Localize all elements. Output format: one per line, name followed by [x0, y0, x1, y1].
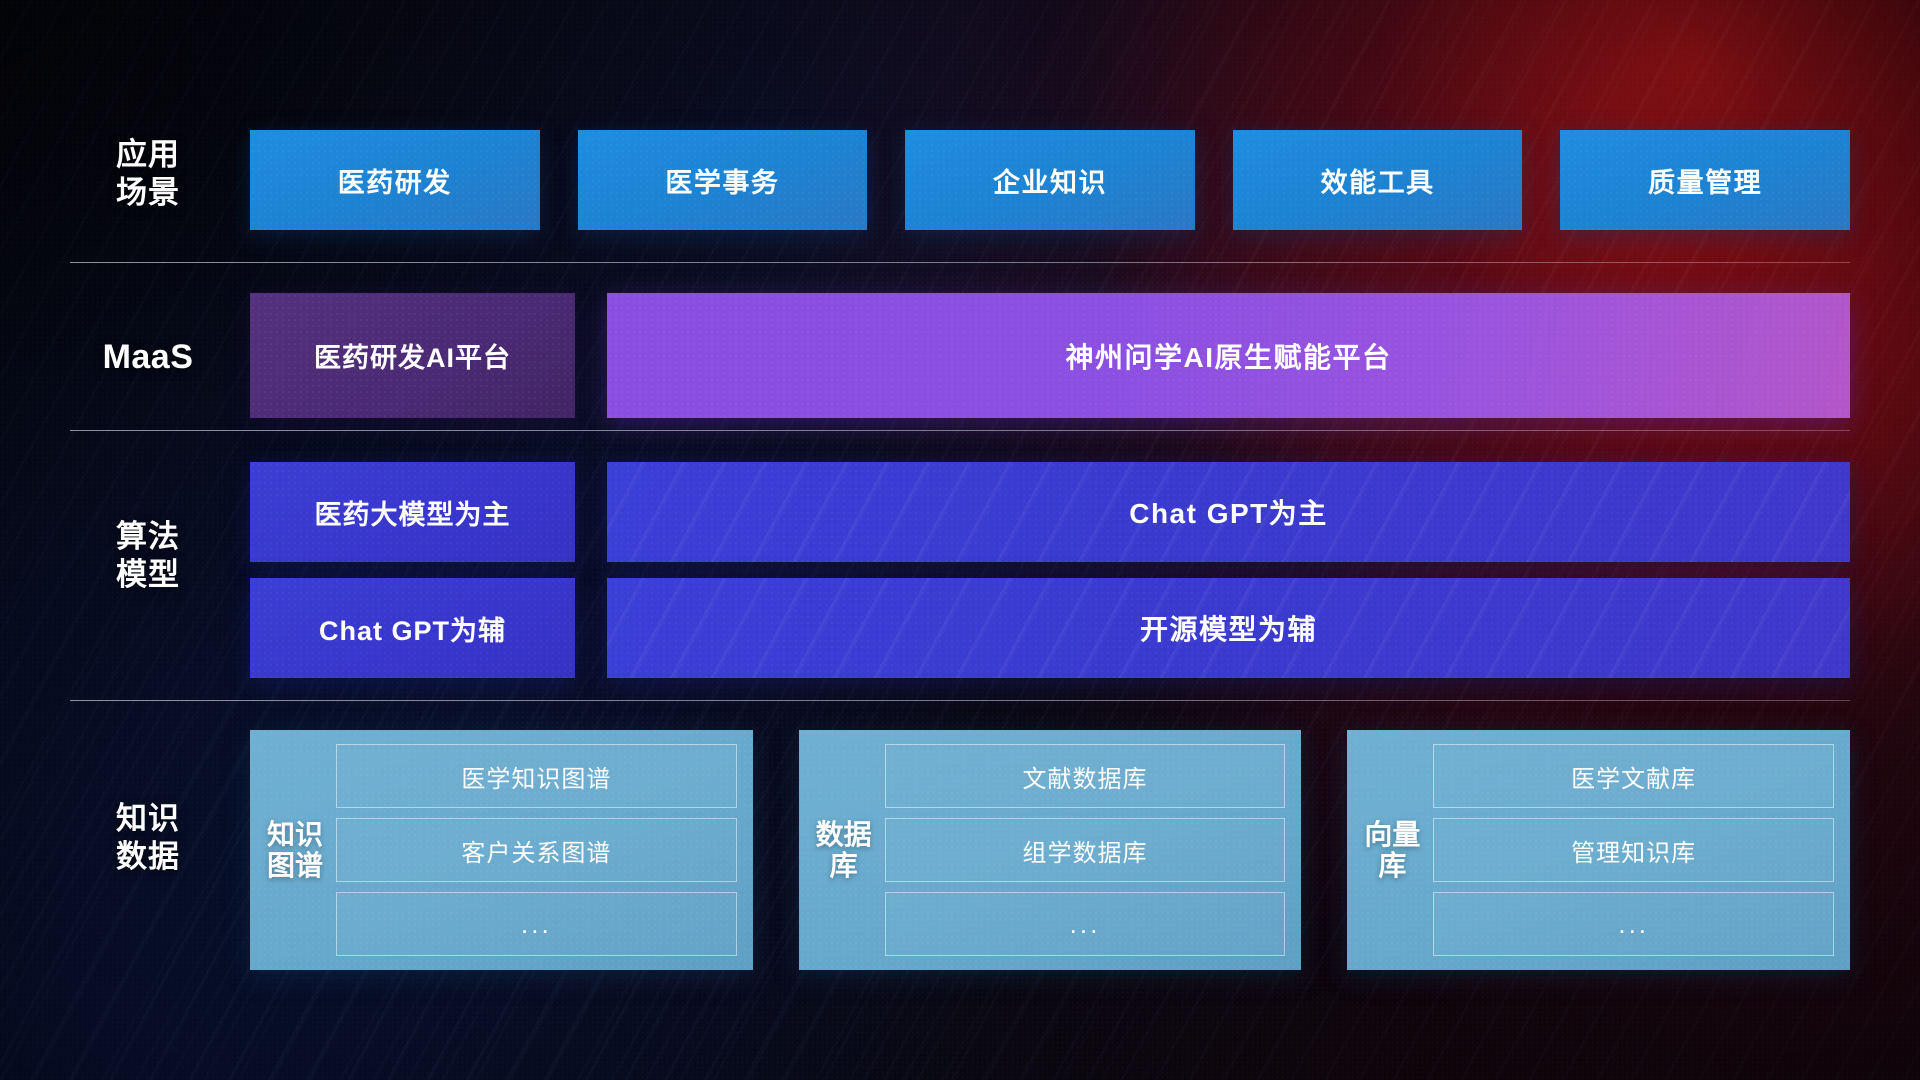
knowledge-item-more[interactable]: ...	[336, 892, 737, 956]
knowledge-item-label: 医学文献库	[1571, 759, 1696, 794]
algo-box-label: Chat GPT为辅	[319, 609, 506, 648]
algo-box-chatgpt-primary[interactable]: Chat GPT为主	[607, 462, 1850, 562]
knowledge-panel-vertical-label: 知识图谱	[266, 744, 324, 956]
knowledge-panel-knowledge-graph: 知识图谱 医学知识图谱 客户关系图谱 ...	[250, 730, 753, 970]
knowledge-item-more[interactable]: ...	[1433, 892, 1834, 956]
algo-box-label: 开源模型为辅	[1140, 608, 1317, 648]
knowledge-item-management-knowledge-store[interactable]: 管理知识库	[1433, 818, 1834, 882]
app-box-quality-management[interactable]: 质量管理	[1560, 130, 1850, 230]
knowledge-item-list: 文献数据库 组学数据库 ...	[885, 744, 1286, 956]
knowledge-item-medical-literature-store[interactable]: 医学文献库	[1433, 744, 1834, 808]
knowledge-item-literature-database[interactable]: 文献数据库	[885, 744, 1286, 808]
algo-box-opensource-model-secondary[interactable]: 开源模型为辅	[607, 578, 1850, 678]
row-label-algorithm: 算法 模型	[78, 518, 218, 594]
divider-algorithm-knowledge	[70, 700, 1850, 701]
row-label-application: 应用 场景	[78, 136, 218, 212]
knowledge-item-label: 客户关系图谱	[461, 833, 611, 868]
maas-box-shenzhou-wenxue-platform[interactable]: 神州问学AI原生赋能平台	[607, 293, 1850, 418]
app-box-label: 质量管理	[1648, 161, 1762, 200]
knowledge-panel-vertical-label: 数据库	[815, 744, 873, 956]
knowledge-item-label: 医学知识图谱	[461, 759, 611, 794]
algo-box-label: Chat GPT为主	[1129, 492, 1328, 532]
knowledge-item-list: 医学文献库 管理知识库 ...	[1433, 744, 1834, 956]
maas-box-pharma-ai-platform[interactable]: 医药研发AI平台	[250, 293, 575, 418]
knowledge-item-medical-knowledge-graph[interactable]: 医学知识图谱	[336, 744, 737, 808]
app-box-efficiency-tools[interactable]: 效能工具	[1233, 130, 1523, 230]
knowledge-item-customer-relation-graph[interactable]: 客户关系图谱	[336, 818, 737, 882]
app-box-label: 效能工具	[1321, 161, 1435, 200]
knowledge-item-label: 管理知识库	[1571, 833, 1696, 868]
knowledge-item-list: 医学知识图谱 客户关系图谱 ...	[336, 744, 737, 956]
knowledge-item-label: 文献数据库	[1023, 759, 1148, 794]
knowledge-panel-database: 数据库 文献数据库 组学数据库 ...	[799, 730, 1302, 970]
divider-maas-algorithm	[70, 430, 1850, 431]
divider-application-maas	[70, 262, 1850, 263]
algo-box-pharma-large-model-primary[interactable]: 医药大模型为主	[250, 462, 575, 562]
architecture-diagram: 应用 场景 医药研发 医学事务 企业知识 效能工具 质量管理 MaaS 医药研发…	[0, 0, 1920, 1080]
row-label-maas: MaaS	[78, 337, 218, 378]
app-box-medical-affairs[interactable]: 医学事务	[578, 130, 868, 230]
knowledge-item-label: ...	[521, 909, 552, 940]
app-box-enterprise-knowledge[interactable]: 企业知识	[905, 130, 1195, 230]
row-label-knowledge: 知识 数据	[78, 800, 218, 876]
algo-box-chatgpt-secondary[interactable]: Chat GPT为辅	[250, 578, 575, 678]
knowledge-data-row: 知识图谱 医学知识图谱 客户关系图谱 ... 数据库 文献数据库	[250, 730, 1850, 970]
app-box-pharma-rd[interactable]: 医药研发	[250, 130, 540, 230]
algorithm-row-primary: 医药大模型为主 Chat GPT为主	[250, 462, 1850, 562]
maas-row: 医药研发AI平台 神州问学AI原生赋能平台	[250, 293, 1850, 418]
app-box-label: 企业知识	[993, 161, 1107, 200]
row-label-application-line1: 应用	[78, 136, 218, 174]
knowledge-item-label: ...	[1618, 909, 1649, 940]
algo-box-label: 医药大模型为主	[315, 493, 511, 532]
knowledge-panel-vector-store: 向量库 医学文献库 管理知识库 ...	[1347, 730, 1850, 970]
row-label-knowledge-line2: 数据	[78, 838, 218, 876]
knowledge-item-label: ...	[1070, 909, 1101, 940]
row-label-maas-text: MaaS	[78, 337, 218, 378]
maas-box-label: 神州问学AI原生赋能平台	[1065, 336, 1391, 376]
knowledge-item-more[interactable]: ...	[885, 892, 1286, 956]
app-box-label: 医药研发	[338, 161, 452, 200]
knowledge-item-omics-database[interactable]: 组学数据库	[885, 818, 1286, 882]
row-label-application-line2: 场景	[78, 174, 218, 212]
row-label-algorithm-line1: 算法	[78, 518, 218, 556]
knowledge-panel-vertical-label: 向量库	[1363, 744, 1421, 956]
application-scenario-row: 医药研发 医学事务 企业知识 效能工具 质量管理	[250, 130, 1850, 230]
maas-box-label: 医药研发AI平台	[314, 336, 511, 375]
app-box-label: 医学事务	[665, 161, 779, 200]
knowledge-item-label: 组学数据库	[1023, 833, 1148, 868]
row-label-knowledge-line1: 知识	[78, 800, 218, 838]
row-label-algorithm-line2: 模型	[78, 556, 218, 594]
algorithm-row-secondary: Chat GPT为辅 开源模型为辅	[250, 578, 1850, 678]
